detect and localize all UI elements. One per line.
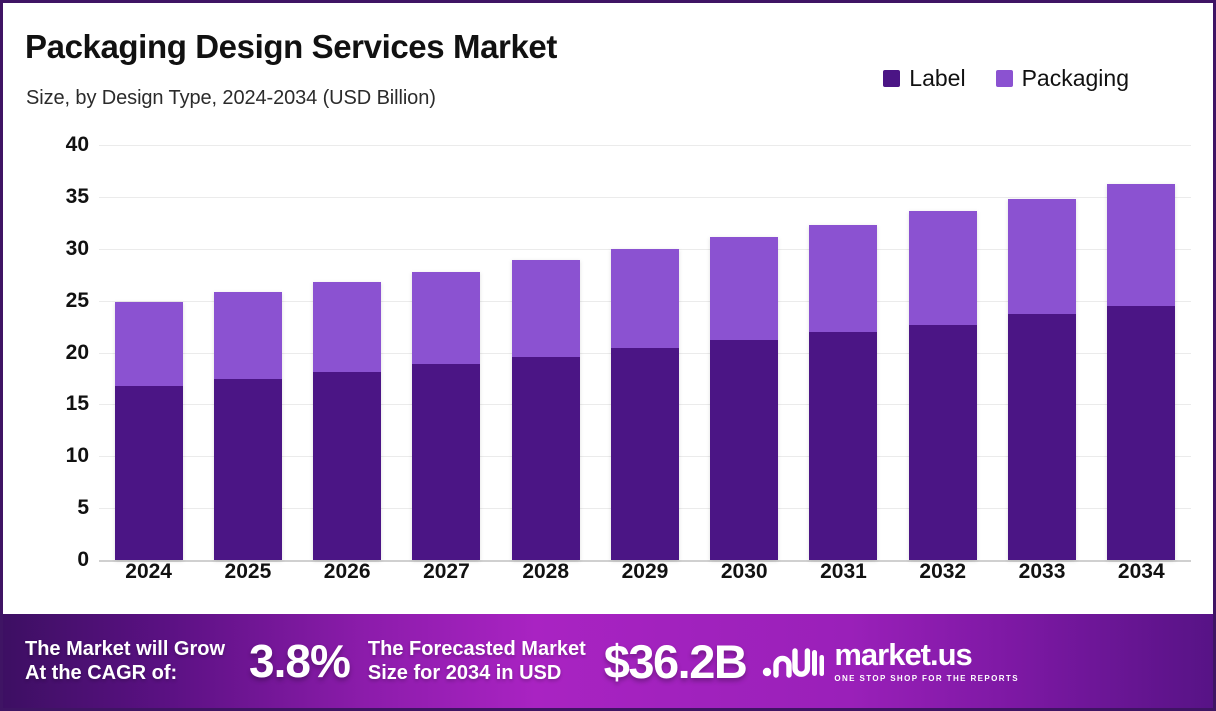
y-axis-tick-label: 5 [77,496,89,520]
stacked-bar[interactable] [1008,199,1076,560]
x-axis-tick-label: 2033 [992,560,1091,584]
legend-label: Packaging [1022,65,1129,92]
infographic-frame: Packaging Design Services Market Size, b… [0,0,1216,711]
bar-segment-label[interactable] [611,348,679,560]
bar-column[interactable]: 32.3 [794,133,893,608]
stacked-bar[interactable] [809,225,877,560]
bar-column[interactable]: 24.9 [99,133,198,608]
bar-segment-packaging[interactable] [611,249,679,349]
bar-segment-label[interactable] [512,357,580,560]
stacked-bar[interactable] [214,292,282,560]
forecast-caption: The Forecasted Market Size for 2034 in U… [368,637,586,686]
bar-segment-label[interactable] [214,379,282,560]
x-axis-tick-label: 2026 [298,560,397,584]
y-axis-tick-label: 35 [66,185,89,209]
bar-segment-packaging[interactable] [412,272,480,364]
y-axis-tick-label: 10 [66,444,89,468]
x-axis-tick-label: 2028 [496,560,595,584]
bar-segment-packaging[interactable] [115,302,183,386]
bar-segment-packaging[interactable] [214,292,282,379]
brand-tagline: ONE STOP SHOP FOR THE REPORTS [834,674,1019,683]
stacked-bar[interactable] [313,282,381,560]
legend-item-packaging[interactable]: Packaging [996,65,1129,92]
bar-column[interactable]: 31.1 [695,133,794,608]
x-axis-ticks: 2024202520262027202820292030203120322033… [99,560,1191,584]
legend-label: Label [909,65,965,92]
stacked-bar[interactable] [909,211,977,560]
x-axis-tick-label: 2032 [893,560,992,584]
y-axis-tick-label: 25 [66,289,89,313]
market-us-logo-icon [762,644,824,678]
bar-segment-packaging[interactable] [809,225,877,332]
summary-banner: The Market will Grow At the CAGR of: 3.8… [3,614,1213,708]
bar-segment-label[interactable] [115,386,183,560]
x-axis-tick-label: 2029 [595,560,694,584]
bar-column[interactable]: 25.8 [198,133,297,608]
bar-segment-packaging[interactable] [512,260,580,356]
bar-column[interactable]: 27.8 [397,133,496,608]
bar-column[interactable]: 28.9 [496,133,595,608]
x-axis-tick-label: 2027 [397,560,496,584]
forecast-value: $36.2B [604,634,747,689]
x-axis-tick-label: 2025 [198,560,297,584]
bar-segment-packaging[interactable] [710,237,778,340]
stacked-bar[interactable] [611,249,679,560]
bar-column[interactable]: 30.0 [595,133,694,608]
brand-text: market.us ONE STOP SHOP FOR THE REPORTS [834,639,1019,683]
bar-column[interactable]: 26.8 [298,133,397,608]
stacked-bar[interactable] [512,260,580,560]
legend-item-label[interactable]: Label [883,65,965,92]
bar-column[interactable]: 34.8 [992,133,1091,608]
stacked-bar[interactable] [1107,184,1175,560]
legend-swatch-icon [996,70,1013,87]
x-axis-tick-label: 2034 [1092,560,1191,584]
chart-legend: LabelPackaging [883,65,1129,92]
bar-group: 24.925.826.827.828.930.031.132.333.634.8… [99,133,1191,608]
chart-axes: 24.925.826.827.828.930.031.132.333.634.8… [99,133,1191,608]
stacked-bar[interactable] [412,272,480,560]
bar-segment-label[interactable] [1008,314,1076,560]
y-axis-tick-label: 0 [77,548,89,572]
x-axis-tick-label: 2031 [794,560,893,584]
y-axis-tick-label: 30 [66,237,89,261]
y-axis-tick-label: 40 [66,133,89,157]
stacked-bar[interactable] [115,302,183,560]
bar-segment-label[interactable] [1107,306,1175,560]
legend-swatch-icon [883,70,900,87]
bar-segment-packaging[interactable] [1107,184,1175,305]
chart-subtitle: Size, by Design Type, 2024-2034 (USD Bil… [26,87,436,110]
brand-logo: market.us ONE STOP SHOP FOR THE REPORTS [762,639,1019,683]
bar-segment-label[interactable] [412,364,480,560]
page-title: Packaging Design Services Market [25,28,557,66]
bar-segment-label[interactable] [710,340,778,560]
x-axis-tick-label: 2024 [99,560,198,584]
bar-column[interactable]: 33.6 [893,133,992,608]
brand-name: market.us [834,639,1019,670]
stacked-bar[interactable] [710,237,778,560]
bar-segment-label[interactable] [909,325,977,561]
y-axis-tick-label: 15 [66,392,89,416]
bar-column[interactable]: 36.2 [1092,133,1191,608]
bar-segment-label[interactable] [313,372,381,560]
bar-segment-packaging[interactable] [1008,199,1076,314]
chart-plot-area: 0510152025303540 24.925.826.827.828.930.… [3,133,1213,608]
bar-segment-label[interactable] [809,332,877,560]
bar-segment-packaging[interactable] [909,211,977,324]
x-axis-tick-label: 2030 [695,560,794,584]
bar-segment-packaging[interactable] [313,282,381,372]
cagr-value: 3.8% [249,634,350,688]
cagr-caption: The Market will Grow At the CAGR of: [25,637,225,686]
y-axis-ticks: 0510152025303540 [41,133,89,608]
chart-header: Packaging Design Services Market Size, b… [3,3,1213,133]
y-axis-tick-label: 20 [66,341,89,365]
